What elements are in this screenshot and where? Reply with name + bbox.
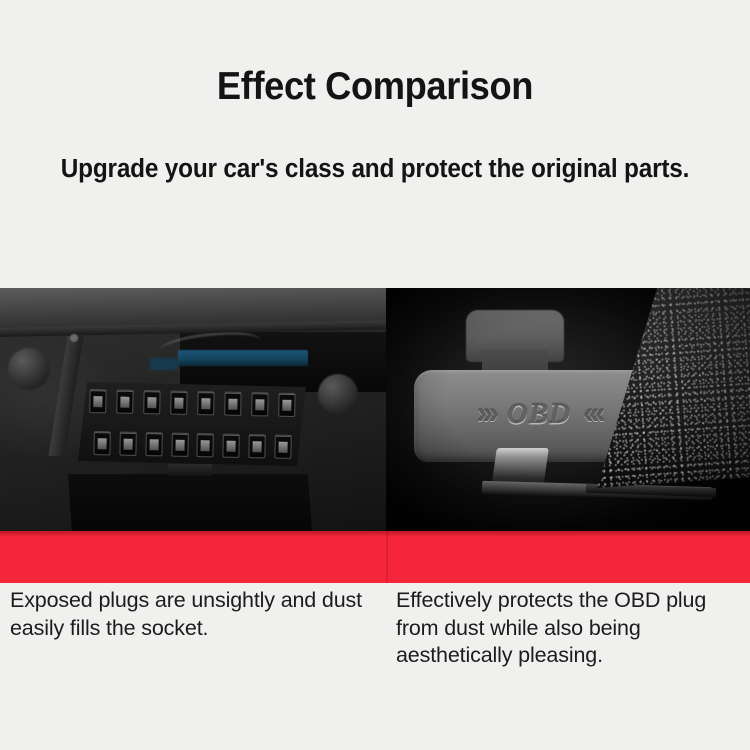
obd-pin bbox=[251, 392, 268, 416]
dash-bolt-left-icon bbox=[8, 348, 50, 390]
photo-after-obd-cover-installed: ››› OBD ‹‹‹ bbox=[386, 288, 750, 531]
bracket-screw-icon bbox=[70, 334, 78, 342]
obd-emboss-label: OBD bbox=[507, 400, 571, 429]
comparison-photo-strip: ››› OBD ‹‹‹ bbox=[0, 288, 750, 531]
obd-pin-row-top bbox=[89, 389, 295, 417]
obd-pin bbox=[278, 393, 295, 417]
blue-connector-icon bbox=[178, 350, 308, 366]
obd-pin bbox=[93, 431, 110, 455]
caption-after: Effectively protects the OBD plug from d… bbox=[386, 583, 750, 670]
obd-pin bbox=[119, 432, 136, 456]
accent-divider-band bbox=[0, 531, 750, 583]
caption-row: Exposed plugs are unsightly and dust eas… bbox=[0, 583, 750, 670]
obd-socket-tab bbox=[168, 464, 212, 476]
obd-pin bbox=[274, 435, 291, 459]
obd-pin bbox=[197, 433, 214, 457]
obd-pin bbox=[223, 434, 240, 458]
dash-bolt-right-icon bbox=[318, 374, 358, 414]
accent-band-right bbox=[386, 531, 750, 583]
chevron-left-triple-icon: ‹‹‹ bbox=[583, 399, 601, 429]
page-title: Effect Comparison bbox=[26, 66, 724, 109]
obd-pin-row-bottom bbox=[88, 431, 294, 459]
photo-before-exposed-obd-socket bbox=[0, 288, 386, 531]
page-subtitle: Upgrade your car's class and protect the… bbox=[17, 155, 733, 184]
obd-pin bbox=[143, 390, 160, 414]
caption-before: Exposed plugs are unsightly and dust eas… bbox=[0, 583, 386, 670]
blue-connector-secondary bbox=[150, 358, 178, 370]
obd-pin bbox=[145, 432, 162, 456]
obd-pin bbox=[171, 433, 188, 457]
accent-band-left bbox=[0, 531, 386, 583]
chevron-right-triple-icon: ››› bbox=[477, 399, 495, 429]
header: Effect Comparison Upgrade your car's cla… bbox=[0, 0, 750, 184]
obd-pin bbox=[116, 390, 133, 414]
obd-pin bbox=[224, 392, 241, 416]
obd-pin bbox=[248, 434, 265, 458]
obd-pin bbox=[170, 391, 187, 415]
product-comparison-page: Effect Comparison Upgrade your car's cla… bbox=[0, 0, 750, 750]
dashboard-lower-shadow bbox=[68, 474, 312, 531]
obd-socket-pin-grid bbox=[85, 385, 298, 463]
obd-pin bbox=[89, 389, 106, 413]
obd-pin bbox=[197, 391, 214, 415]
